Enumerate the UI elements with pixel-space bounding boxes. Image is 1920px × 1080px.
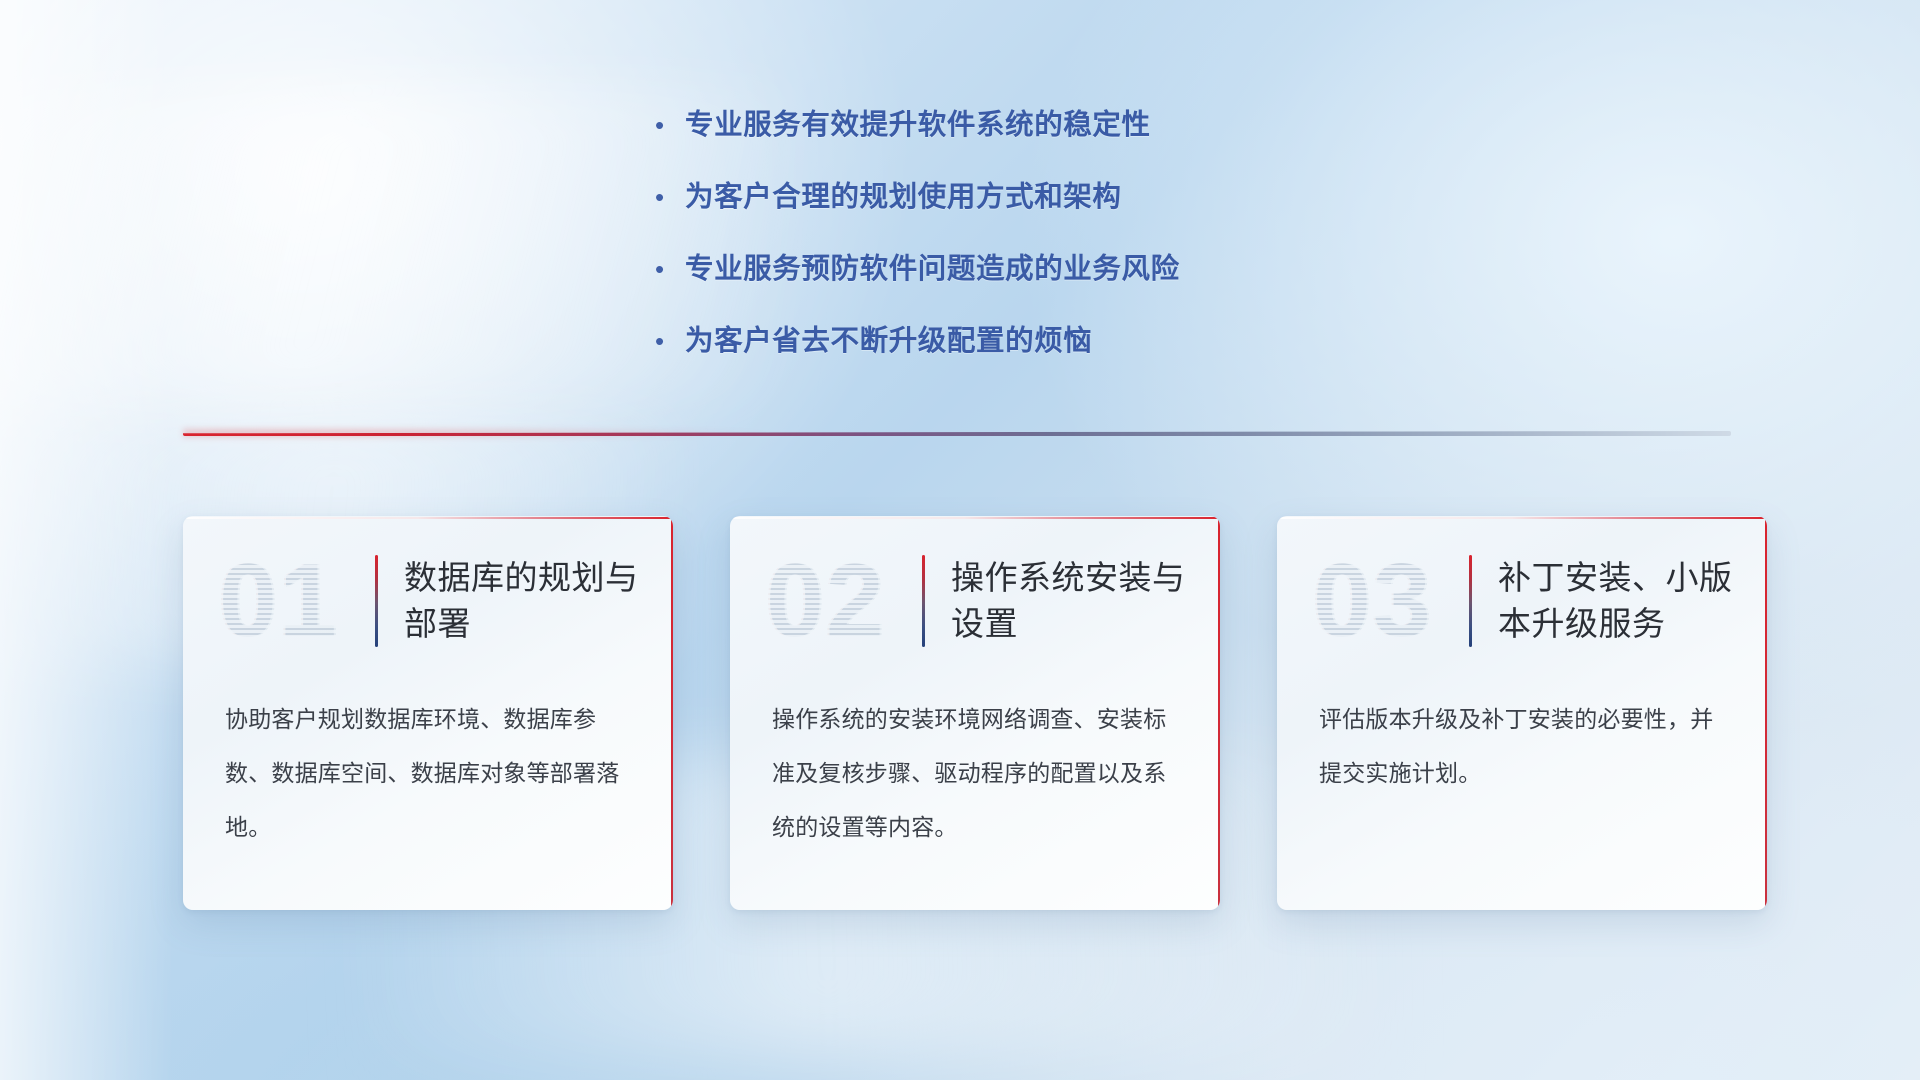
list-item: • 专业服务有效提升软件系统的稳定性 xyxy=(655,105,1415,146)
list-item: • 专业服务预防软件问题造成的业务风险 xyxy=(655,249,1415,290)
card-title-03: 补丁安装、小版本升级服务 xyxy=(1498,555,1750,647)
card-title-rule xyxy=(375,555,378,647)
service-card-list: 01 数据库的规划与部署 协助客户规划数据库环境、数据库参数、数据库空间、数据库… xyxy=(183,516,1767,910)
bullet-dot-icon: • xyxy=(655,177,685,218)
card-header: 01 数据库的规划与部署 xyxy=(183,516,673,686)
card-body-02: 操作系统的安装环境网络调查、安装标准及复核步骤、驱动程序的配置以及系统的设置等内… xyxy=(730,686,1220,854)
service-card-03[interactable]: 03 补丁安装、小版本升级服务 评估版本升级及补丁安装的必要性，并提交实施计划。 xyxy=(1277,516,1767,910)
list-item: • 为客户合理的规划使用方式和架构 xyxy=(655,177,1415,218)
card-number-01: 01 xyxy=(219,542,371,660)
bullet-text-4: 为客户省去不断升级配置的烦恼 xyxy=(685,321,1092,362)
section-divider xyxy=(183,425,1731,445)
bullet-dot-icon: • xyxy=(655,249,685,290)
service-card-01[interactable]: 01 数据库的规划与部署 协助客户规划数据库环境、数据库参数、数据库空间、数据库… xyxy=(183,516,673,910)
bullet-dot-icon: • xyxy=(655,105,685,146)
service-card-02[interactable]: 02 操作系统安装与设置 操作系统的安装环境网络调查、安装标准及复核步骤、驱动程… xyxy=(730,516,1220,910)
card-title-02: 操作系统安装与设置 xyxy=(951,555,1203,647)
bullet-text-3: 专业服务预防软件问题造成的业务风险 xyxy=(685,249,1180,290)
card-title-01: 数据库的规划与部署 xyxy=(404,555,656,647)
card-header: 02 操作系统安装与设置 xyxy=(730,516,1220,686)
list-item: • 为客户省去不断升级配置的烦恼 xyxy=(655,321,1415,362)
bullet-text-2: 为客户合理的规划使用方式和架构 xyxy=(685,177,1122,218)
bullet-dot-icon: • xyxy=(655,321,685,362)
card-body-03: 评估版本升级及补丁安装的必要性，并提交实施计划。 xyxy=(1277,686,1767,800)
card-header: 03 补丁安装、小版本升级服务 xyxy=(1277,516,1767,686)
card-number-03: 03 xyxy=(1313,542,1465,660)
bullet-text-1: 专业服务有效提升软件系统的稳定性 xyxy=(685,105,1151,146)
background-left-highlight xyxy=(0,0,173,1080)
key-benefits-list: • 专业服务有效提升软件系统的稳定性 • 为客户合理的规划使用方式和架构 • 专… xyxy=(655,105,1415,393)
card-body-01: 协助客户规划数据库环境、数据库参数、数据库空间、数据库对象等部署落地。 xyxy=(183,686,673,854)
card-number-02: 02 xyxy=(766,542,918,660)
card-title-rule xyxy=(922,555,925,647)
card-title-rule xyxy=(1469,555,1472,647)
